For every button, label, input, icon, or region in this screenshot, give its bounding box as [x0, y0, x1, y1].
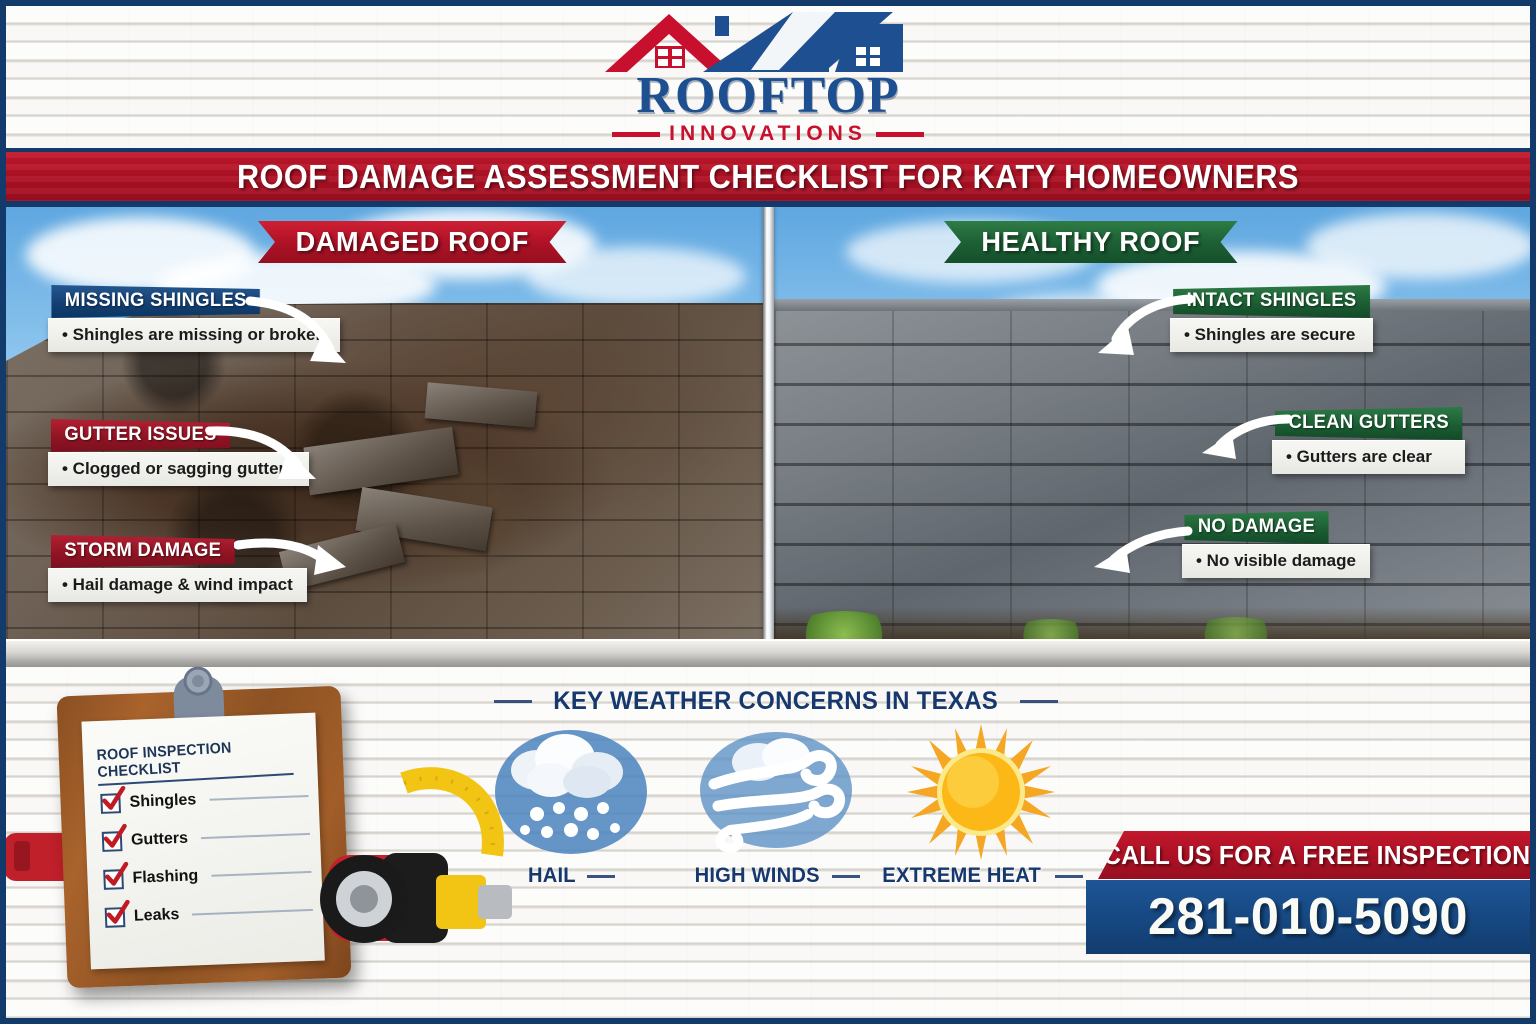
list-item-label: Gutters	[131, 830, 189, 850]
callout-caption: GUTTER ISSUES	[51, 419, 230, 452]
callout-body: • No visible damage	[1182, 544, 1370, 578]
weather-label-row: HAIL	[527, 864, 615, 888]
weather-item-high-winds[interactable]: HIGH WINDS	[681, 722, 871, 888]
wind-swirl-icon	[696, 722, 856, 862]
callout-clean-gutters[interactable]: CLEAN GUTTERS • Gutters are clear	[1272, 407, 1465, 474]
callout-body: • Hail damage & wind impact	[48, 568, 307, 602]
weather-label-row: EXTREME HEAT	[879, 864, 1082, 888]
clipboard-checklist: Shingles Gutters	[100, 777, 314, 937]
list-item[interactable]: Leaks	[104, 891, 313, 937]
checkbox-shingles[interactable]	[100, 793, 121, 814]
list-item-label: Shingles	[129, 791, 196, 812]
check-icon	[100, 786, 127, 813]
poster-inner-frame: ROOFTOP INNOVATIONS ROOF DAMAGE ASSESSME…	[6, 6, 1530, 1018]
checkbox-flashing[interactable]	[103, 869, 124, 890]
callout-caption: CLEAN GUTTERS	[1275, 407, 1463, 440]
weather-item-label: HAIL	[528, 864, 576, 888]
damaged-roof-banner-label: DAMAGED ROOF	[296, 226, 529, 258]
comparison-divider	[763, 207, 774, 667]
roof-comparison-photo: DAMAGED ROOF HEALTHY ROOF MISSING SHINGL…	[6, 207, 1530, 667]
callout-body: • Clogged or sagging gutters	[48, 452, 309, 486]
brand-name: ROOFTOP	[636, 70, 899, 122]
check-icon	[103, 862, 130, 889]
cta-headline: CALL US FOR A FREE INSPECTION!	[1089, 840, 1530, 871]
callout-caption: NO DAMAGE	[1184, 511, 1328, 544]
roof-ridge-cap	[774, 299, 1530, 311]
check-icon	[101, 824, 128, 851]
weather-item-label: HIGH WINDS	[694, 864, 819, 888]
callout-body: • Shingles are missing or broken	[48, 318, 340, 352]
title-rule-left	[494, 700, 532, 703]
label-rule	[1055, 875, 1083, 878]
title-rule-right	[1020, 700, 1058, 703]
hail-cloud-icon	[491, 722, 651, 862]
label-rule	[832, 875, 860, 878]
weather-concerns-block: KEY WEATHER CONCERNS IN TEXAS	[476, 687, 1076, 917]
weather-title-row: KEY WEATHER CONCERNS IN TEXAS	[476, 687, 1076, 716]
weather-item-label: EXTREME HEAT	[883, 864, 1042, 888]
callout-gutter-issues[interactable]: GUTTER ISSUES • Clogged or sagging gutte…	[48, 419, 309, 486]
weather-items: HAIL	[476, 722, 1076, 888]
label-rule	[587, 875, 615, 878]
infographic-poster: ROOFTOP INNOVATIONS ROOF DAMAGE ASSESSME…	[0, 0, 1536, 1024]
sun-icon	[901, 722, 1061, 862]
list-item-label: Leaks	[134, 906, 180, 926]
callout-intact-shingles[interactable]: INTACT SHINGLES • Shingles are secure	[1170, 285, 1373, 352]
cta-banner[interactable]: CALL US FOR A FREE INSPECTION!	[1098, 831, 1530, 879]
bottom-section: ROOF INSPECTION CHECKLIST Shingles	[6, 667, 1530, 1018]
callout-storm-damage[interactable]: STORM DAMAGE • Hail damage & wind impact	[48, 535, 307, 602]
brand-logo: ROOFTOP INNOVATIONS	[553, 10, 983, 148]
weather-title: KEY WEATHER CONCERNS IN TEXAS	[554, 687, 999, 716]
healthy-roof-banner: HEALTHY ROOF	[944, 221, 1238, 263]
callout-caption: INTACT SHINGLES	[1173, 285, 1370, 318]
cloud	[1306, 213, 1530, 279]
header-band: ROOFTOP INNOVATIONS	[6, 6, 1530, 148]
callout-body: • Shingles are secure	[1170, 318, 1373, 352]
brand-tagline: INNOVATIONS	[669, 123, 867, 145]
house-roof-icon	[603, 10, 933, 72]
callout-no-damage[interactable]: NO DAMAGE • No visible damage	[1182, 511, 1370, 578]
callout-caption: MISSING SHINGLES	[51, 285, 260, 318]
check-icon	[104, 900, 131, 927]
tagline-rule-left	[612, 132, 660, 137]
weather-label-row: HIGH WINDS	[692, 864, 860, 888]
checkbox-gutters[interactable]	[102, 831, 123, 852]
brand-tagline-row: INNOVATIONS	[612, 123, 924, 145]
damaged-roof-banner: DAMAGED ROOF	[258, 221, 567, 263]
page-title-bar: ROOF DAMAGE ASSESSMENT CHECKLIST FOR KAT…	[6, 150, 1530, 204]
healthy-roof-banner-label: HEALTHY ROOF	[981, 226, 1200, 258]
phone-number: 281-010-5090	[1148, 887, 1468, 947]
tagline-rule-right	[876, 132, 924, 137]
phone-banner[interactable]: 281-010-5090	[1086, 880, 1530, 954]
weather-item-extreme-heat[interactable]: EXTREME HEAT	[886, 722, 1076, 888]
callout-body: • Gutters are clear	[1272, 440, 1465, 474]
checkbox-leaks[interactable]	[105, 907, 126, 928]
weather-item-hail[interactable]: HAIL	[476, 722, 666, 888]
list-item-label: Flashing	[132, 867, 198, 888]
callout-caption: STORM DAMAGE	[51, 535, 235, 568]
page-title: ROOF DAMAGE ASSESSMENT CHECKLIST FOR KAT…	[237, 158, 1299, 196]
callout-missing-shingles[interactable]: MISSING SHINGLES • Shingles are missing …	[48, 285, 340, 352]
